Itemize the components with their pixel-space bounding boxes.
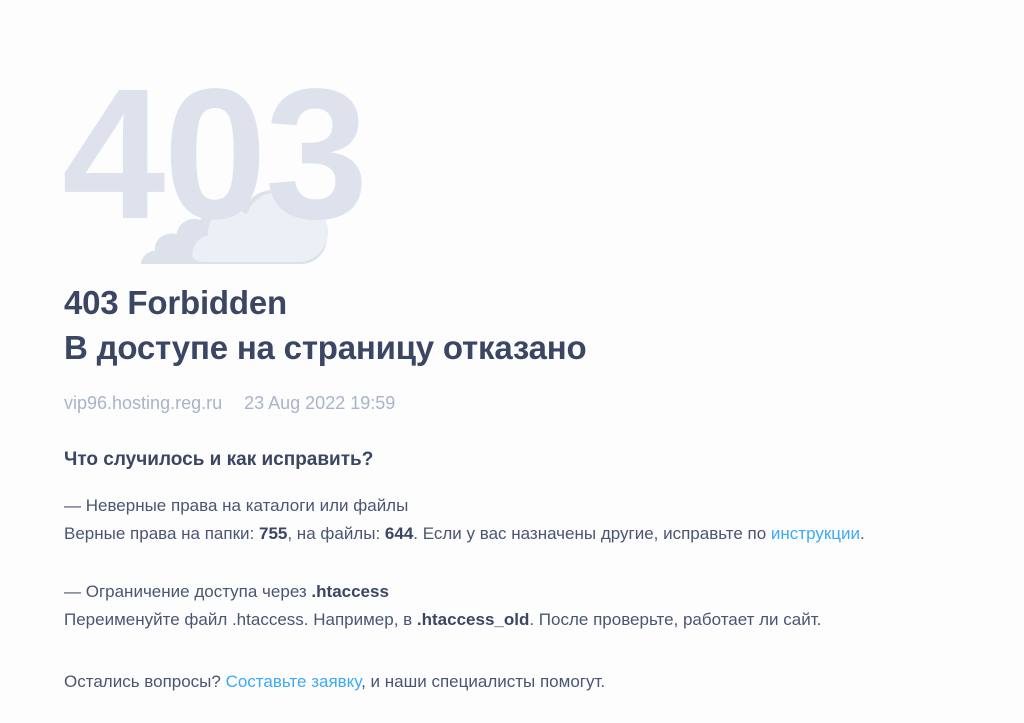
page-title-line-en: 403 Forbidden bbox=[64, 280, 984, 325]
hostname-label: vip96.hosting.reg.ru bbox=[64, 393, 222, 413]
reason-permissions-detail: Верные права на папки: 755, на файлы: 64… bbox=[64, 520, 984, 548]
htaccess-filename: .htaccess bbox=[311, 582, 389, 601]
timestamp-label: 23 Aug 2022 19:59 bbox=[244, 393, 395, 413]
permissions-text-suffix: . bbox=[860, 524, 865, 543]
instructions-link[interactable]: инструкции bbox=[771, 524, 860, 543]
page-title: 403 Forbidden В доступе на страницу отка… bbox=[64, 280, 984, 370]
support-prompt-prefix: Остались вопросы? bbox=[64, 672, 226, 691]
error-page: 403 403 Forbidden В доступе на страницу … bbox=[0, 0, 1024, 723]
htaccess-detail-prefix: Переименуйте файл .htaccess. Например, в bbox=[64, 610, 417, 629]
permissions-text-prefix: Верные права на папки: bbox=[64, 524, 259, 543]
create-ticket-link[interactable]: Составьте заявку bbox=[226, 672, 362, 691]
permissions-text-middle: , на файлы: bbox=[287, 524, 385, 543]
reason-htaccess-headline: — Ограничение доступа через .htaccess bbox=[64, 578, 984, 606]
support-prompt-suffix: , и наши специалисты помогут. bbox=[361, 672, 605, 691]
page-title-line-ru: В доступе на страницу отказано bbox=[64, 325, 984, 370]
section-title: Что случилось и как исправить? bbox=[64, 448, 984, 472]
htaccess-headline-prefix: — Ограничение доступа через bbox=[64, 582, 311, 601]
htaccess-renamed-filename: .htaccess_old bbox=[417, 610, 529, 629]
reason-permissions: — Неверные права на каталоги или файлы В… bbox=[64, 492, 984, 548]
htaccess-detail-suffix: . После проверьте, работает ли сайт. bbox=[529, 610, 821, 629]
reason-htaccess: — Ограничение доступа через .htaccess Пе… bbox=[64, 578, 984, 634]
support-prompt: Остались вопросы? Составьте заявку, и на… bbox=[64, 668, 984, 696]
page-meta: vip96.hosting.reg.ru23 Aug 2022 19:59 bbox=[64, 392, 984, 414]
dir-permissions-value: 755 bbox=[259, 524, 287, 543]
reason-permissions-headline: — Неверные права на каталоги или файлы bbox=[64, 492, 984, 520]
hero-illustration: 403 bbox=[0, 0, 1024, 272]
permissions-text-after: . Если у вас назначены другие, исправьте… bbox=[413, 524, 771, 543]
error-code-watermark: 403 bbox=[62, 62, 366, 248]
reason-htaccess-detail: Переименуйте файл .htaccess. Например, в… bbox=[64, 606, 984, 634]
file-permissions-value: 644 bbox=[385, 524, 413, 543]
content-area: 403 Forbidden В доступе на страницу отка… bbox=[64, 280, 984, 696]
